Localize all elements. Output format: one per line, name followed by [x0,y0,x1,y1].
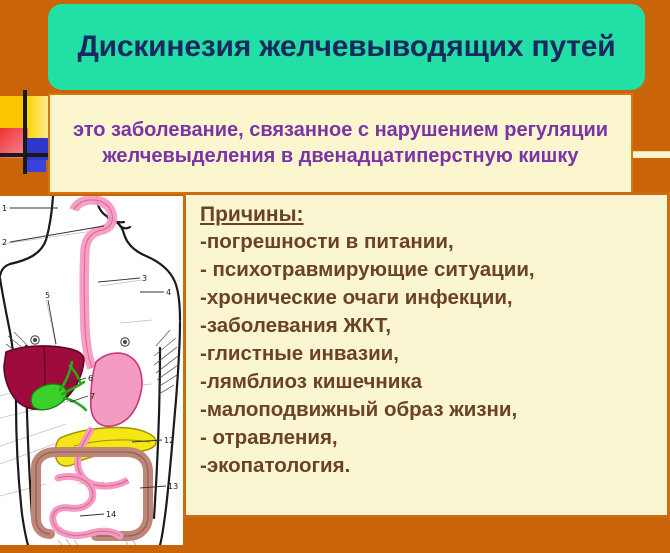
svg-text:13: 13 [168,482,178,491]
list-item: - психотравмирующие ситуации, [200,256,667,284]
list-item: -заболевания ЖКТ, [200,312,667,340]
list-item: -хронические очаги инфекции, [200,284,667,312]
mondrian-accent-block [0,96,48,168]
svg-text:6: 6 [88,374,93,383]
causes-panel: Причины: -погрешности в питании, - психо… [183,192,670,518]
list-item: -погрешности в питании, [200,228,667,256]
deco-vertical-line [23,90,27,174]
svg-text:2: 2 [2,238,7,247]
svg-text:4: 4 [166,288,171,297]
definition-box: это заболевание, связанное с нарушением … [48,93,633,194]
svg-text:1: 1 [2,204,7,213]
slide-title: Дискинезия желчевыводящих путей [63,30,629,64]
definition-text: это заболевание, связанное с нарушением … [50,118,631,169]
digestive-system-anatomy-diagram: 1 2 3 4 5 6 7 12 13 14 [0,196,183,545]
list-item: -экопатология. [200,452,667,480]
deco-blue-bar [26,160,46,172]
svg-text:7: 7 [90,392,95,401]
list-item: -малоподвижный образ жизни, [200,396,667,424]
svg-text:12: 12 [164,436,174,445]
list-item: - отравления, [200,424,667,452]
slide-title-box: Дискинезия желчевыводящих путей [48,4,645,90]
list-item: -лямблиоз кишечника [200,368,667,396]
deco-yellow-gradient [26,96,48,138]
svg-text:3: 3 [142,274,147,283]
list-item: -глистные инвазии, [200,340,667,368]
svg-text:5: 5 [45,291,50,300]
deco-horizontal-line [0,153,52,157]
causes-heading: Причины: [200,203,667,227]
svg-text:14: 14 [106,510,116,519]
